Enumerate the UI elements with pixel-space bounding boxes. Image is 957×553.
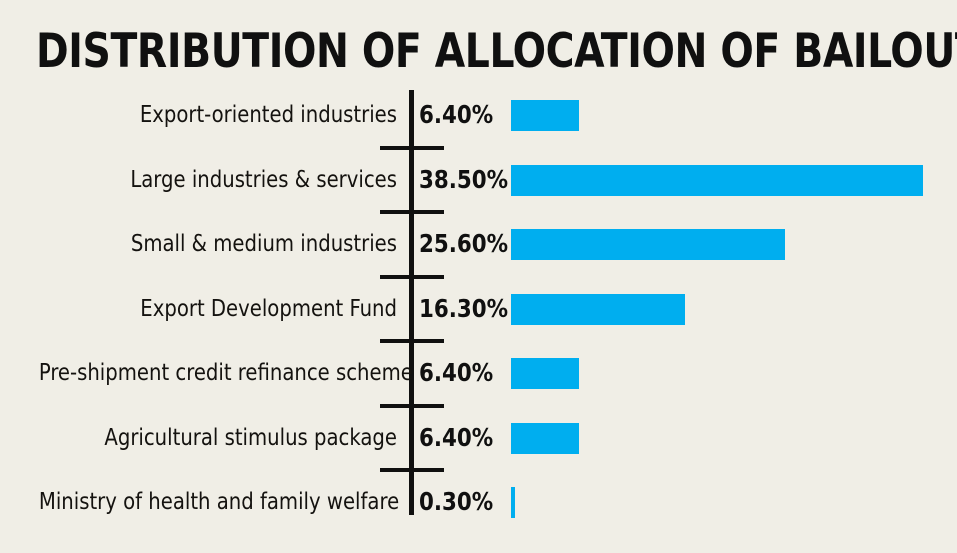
bar bbox=[511, 487, 515, 518]
category-label: Large industries & services bbox=[39, 148, 397, 213]
value-label: 25.60% bbox=[419, 212, 508, 277]
bar bbox=[511, 165, 923, 196]
chart-title: DISTRIBUTION OF ALLOCATION OF BAILOUT PA… bbox=[36, 26, 873, 78]
category-label: Export Development Fund bbox=[39, 277, 397, 342]
value-label: 6.40% bbox=[419, 341, 493, 406]
value-label: 16.30% bbox=[419, 277, 508, 342]
value-label: 6.40% bbox=[419, 83, 493, 148]
bar bbox=[511, 100, 579, 131]
chart-row: Pre-shipment credit refinance scheme6.40… bbox=[0, 341, 957, 406]
chart-row: Large industries & services38.50% bbox=[0, 148, 957, 213]
value-label: 6.40% bbox=[419, 406, 493, 471]
category-label: Small & medium industries bbox=[39, 212, 397, 277]
bar bbox=[511, 294, 685, 325]
category-label: Ministry of health and family welfare bbox=[39, 470, 397, 535]
chart-row: Ministry of health and family welfare0.3… bbox=[0, 470, 957, 535]
chart-row: Agricultural stimulus package6.40% bbox=[0, 406, 957, 471]
value-label: 38.50% bbox=[419, 148, 508, 213]
chart-plot-area: Export-oriented industries6.40%Large ind… bbox=[0, 83, 957, 528]
chart-row: Export-oriented industries6.40% bbox=[0, 83, 957, 148]
value-label: 0.30% bbox=[419, 470, 493, 535]
category-label: Pre-shipment credit refinance scheme bbox=[39, 341, 397, 406]
bar bbox=[511, 358, 579, 389]
category-label: Export-oriented industries bbox=[39, 83, 397, 148]
category-label: Agricultural stimulus package bbox=[39, 406, 397, 471]
bar bbox=[511, 229, 785, 260]
chart-row: Small & medium industries25.60% bbox=[0, 212, 957, 277]
bar bbox=[511, 423, 579, 454]
chart-row: Export Development Fund16.30% bbox=[0, 277, 957, 342]
bar-chart-infographic: DISTRIBUTION OF ALLOCATION OF BAILOUT PA… bbox=[0, 0, 957, 553]
